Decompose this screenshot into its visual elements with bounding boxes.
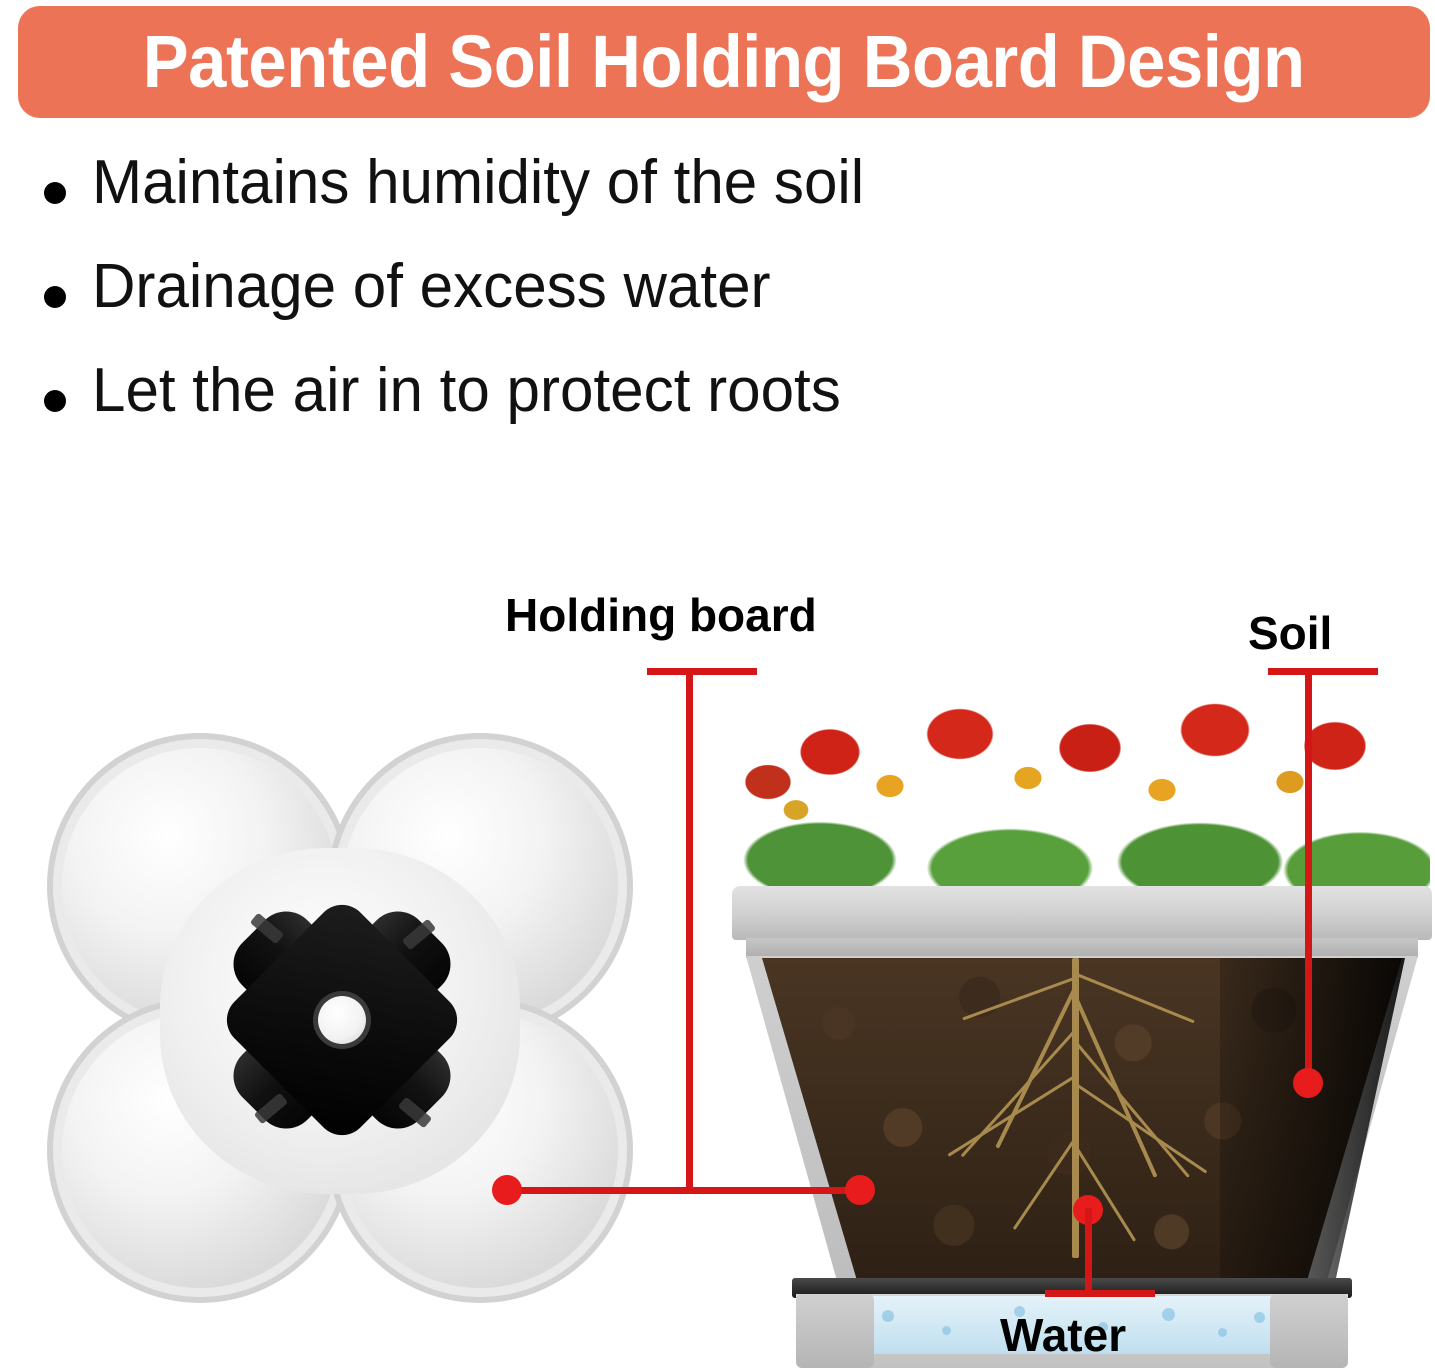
water-bubble-icon — [882, 1310, 894, 1322]
reservoir-foot-right — [1270, 1294, 1348, 1368]
water-bubble-icon — [1218, 1328, 1227, 1337]
leader-line-soil — [1305, 668, 1312, 1080]
chrysanthemum-flowers — [710, 690, 1430, 905]
root-branch — [1074, 1145, 1136, 1242]
feature-text: Drainage of excess water — [92, 254, 771, 319]
leader-tbar-water — [1045, 1290, 1155, 1297]
water-bubble-icon — [942, 1326, 951, 1335]
drainage-hole — [318, 996, 366, 1044]
list-item: Drainage of excess water — [44, 254, 1144, 358]
root-branch — [1075, 1083, 1208, 1174]
planter-rim — [732, 886, 1432, 940]
page-title: Patented Soil Holding Board Design — [143, 25, 1305, 99]
water-bubble-icon — [1254, 1312, 1265, 1323]
water-bubble-icon — [1162, 1308, 1175, 1321]
callout-label-water: Water — [1000, 1308, 1126, 1362]
root-branch — [1013, 1137, 1077, 1230]
reservoir-foot-left — [796, 1294, 874, 1368]
root-branch — [1075, 973, 1195, 1024]
feature-text: Maintains humidity of the soil — [92, 150, 864, 215]
feature-list: Maintains humidity of the soil Drainage … — [44, 150, 1144, 462]
clover-planter-top-view — [42, 740, 652, 1300]
feature-text: Let the air in to protect roots — [92, 358, 841, 423]
marker-dot-holding-board-right — [845, 1175, 875, 1205]
leader-bridge-holding-board — [505, 1187, 865, 1194]
holding-board-insert — [192, 870, 492, 1170]
bullet-dot-icon — [44, 182, 66, 204]
marker-dot-holding-board-left — [492, 1175, 522, 1205]
bullet-dot-icon — [44, 390, 66, 412]
list-item: Let the air in to protect roots — [44, 358, 1144, 462]
product-diagram: Holding board Soil Water — [0, 540, 1435, 1368]
leader-tbar-holding-board — [647, 668, 757, 675]
leader-line-holding-board — [686, 668, 693, 1190]
planter-cross-section — [700, 690, 1435, 1310]
planter-rim-lip — [746, 938, 1418, 958]
root-branch — [947, 1075, 1076, 1157]
marker-dot-soil — [1293, 1068, 1323, 1098]
leader-tbar-soil — [1268, 668, 1378, 675]
callout-label-soil: Soil — [1248, 606, 1332, 660]
list-item: Maintains humidity of the soil — [44, 150, 1144, 254]
header-banner: Patented Soil Holding Board Design — [18, 6, 1430, 118]
leader-line-water — [1085, 1208, 1092, 1296]
root-branch — [995, 985, 1078, 1149]
callout-label-holding-board: Holding board — [505, 588, 817, 642]
root-branch — [1074, 1041, 1189, 1178]
bullet-dot-icon — [44, 286, 66, 308]
